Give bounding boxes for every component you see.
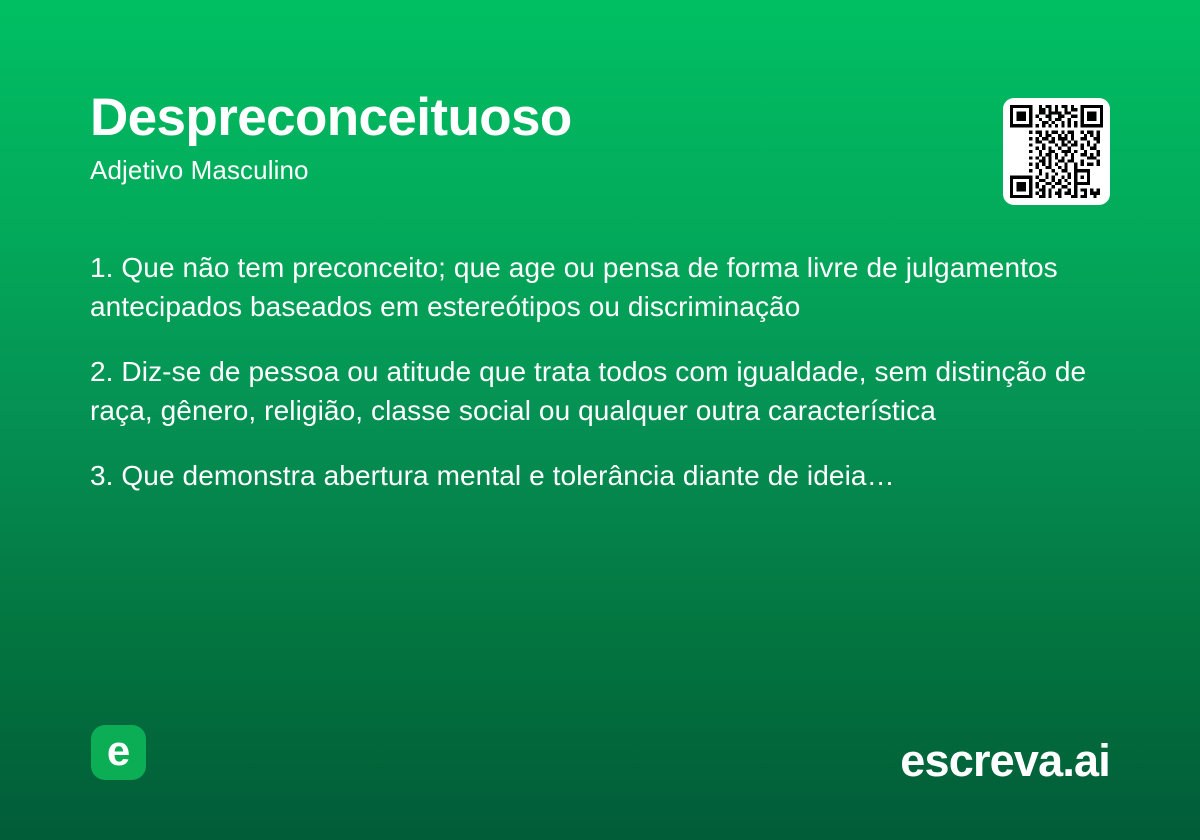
dictionary-card: Despreconceituoso Adjetivo Masculino (0, 0, 1200, 840)
definition-item: 1. Que não tem preconceito; que age ou p… (90, 248, 1105, 326)
definition-item: 2. Diz-se de pessoa ou atitude que trata… (90, 352, 1105, 430)
brand-wordmark: escreva.ai (900, 738, 1110, 783)
qr-code-icon (1010, 105, 1103, 198)
logo-letter: e (107, 730, 130, 772)
qr-code-panel[interactable] (1003, 98, 1110, 205)
definition-item: 3. Que demonstra abertura mental e toler… (90, 456, 1105, 495)
word-class-label: Adjetivo Masculino (90, 155, 970, 186)
page-title: Despreconceituoso (90, 88, 970, 147)
escreva-logo-icon: e (91, 725, 146, 780)
card-header: Despreconceituoso Adjetivo Masculino (90, 88, 970, 186)
definition-list: 1. Que não tem preconceito; que age ou p… (90, 248, 1105, 495)
